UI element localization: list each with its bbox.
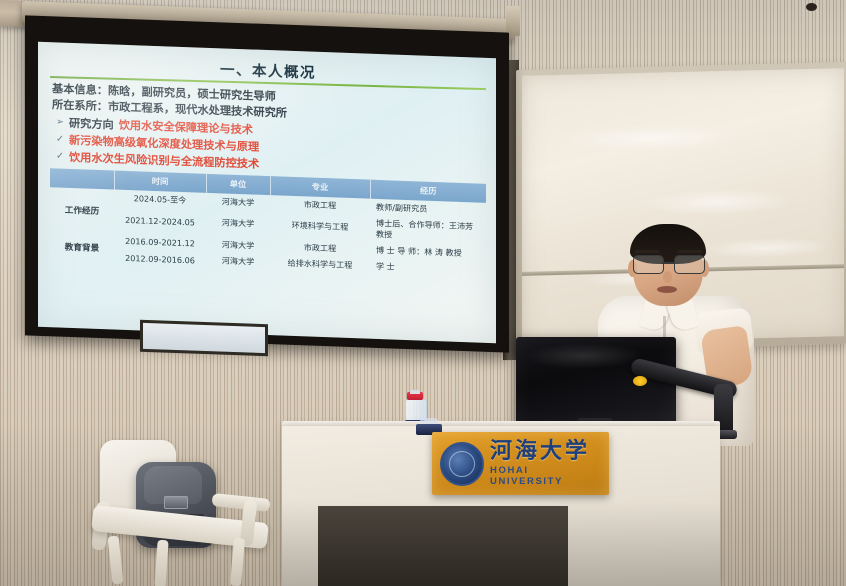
col-category [50,168,114,189]
backpack-logo-icon [164,496,188,509]
cell-unit: 河海大学 [206,252,270,270]
presenter-brow-left [635,250,659,253]
cell-experience: 博士后、合作导师：王沛芳 教授 [370,215,486,246]
check-bullet-icon: ✓ [56,151,64,162]
cell-time: 2012.09-2016.06 [114,249,206,268]
plaque-name-en: HOHAI UNIVERSITY [490,465,601,487]
chair-arm-right [211,493,270,512]
presenter-mouth [657,286,677,293]
cv-table: 时间 单位 专业 经历 工作经历 2024.05-至今 河海大学 市政工程 教师… [50,168,486,278]
monitor-badge-icon [633,376,647,386]
plaque-name-cn: 河海大学 [490,440,601,462]
podium-recess [318,506,568,586]
check-bullet-icon: ✓ [56,134,64,145]
cell-major: 给排水科学与工程 [270,255,370,275]
lower-window [140,320,268,356]
cell-unit: 河海大学 [206,209,270,238]
projection-screen: 一、本人概况 基本信息：陈晗，副研究员，硕士研究生导师 所在系所：市政工程系，现… [38,42,496,343]
university-plaque: 河海大学 HOHAI UNIVERSITY [432,432,609,495]
presenter-nose [663,271,672,283]
bottle-cap [410,390,420,394]
cell-time: 2021.12-2024.05 [114,206,206,236]
col-unit: 单位 [206,174,270,195]
chair-leg [154,540,168,586]
lecture-hall-photo: 一、本人概况 基本信息：陈晗，副研究员，硕士研究生导师 所在系所：市政工程系，现… [0,0,846,586]
arrow-bullet-icon: ➢ [56,117,64,128]
monitor-rear[interactable] [516,337,676,425]
cell-experience: 学 士 [370,258,486,278]
presentation-slide: 一、本人概况 基本信息：陈晗，副研究员，硕士研究生导师 所在系所：市政工程系，现… [38,42,496,343]
cell-category: 教育背景 [50,231,114,266]
cell-category: 工作经历 [50,187,114,233]
glasses-icon [632,255,704,272]
bullet-label: 研究方向 [69,115,114,133]
presenter-brow-right [678,250,702,253]
armchair [92,440,282,586]
university-seal-icon [440,442,484,486]
ceiling-sensor-icon [806,3,817,11]
chair-leg [108,536,124,585]
cell-major: 环境科学与工程 [270,211,370,242]
